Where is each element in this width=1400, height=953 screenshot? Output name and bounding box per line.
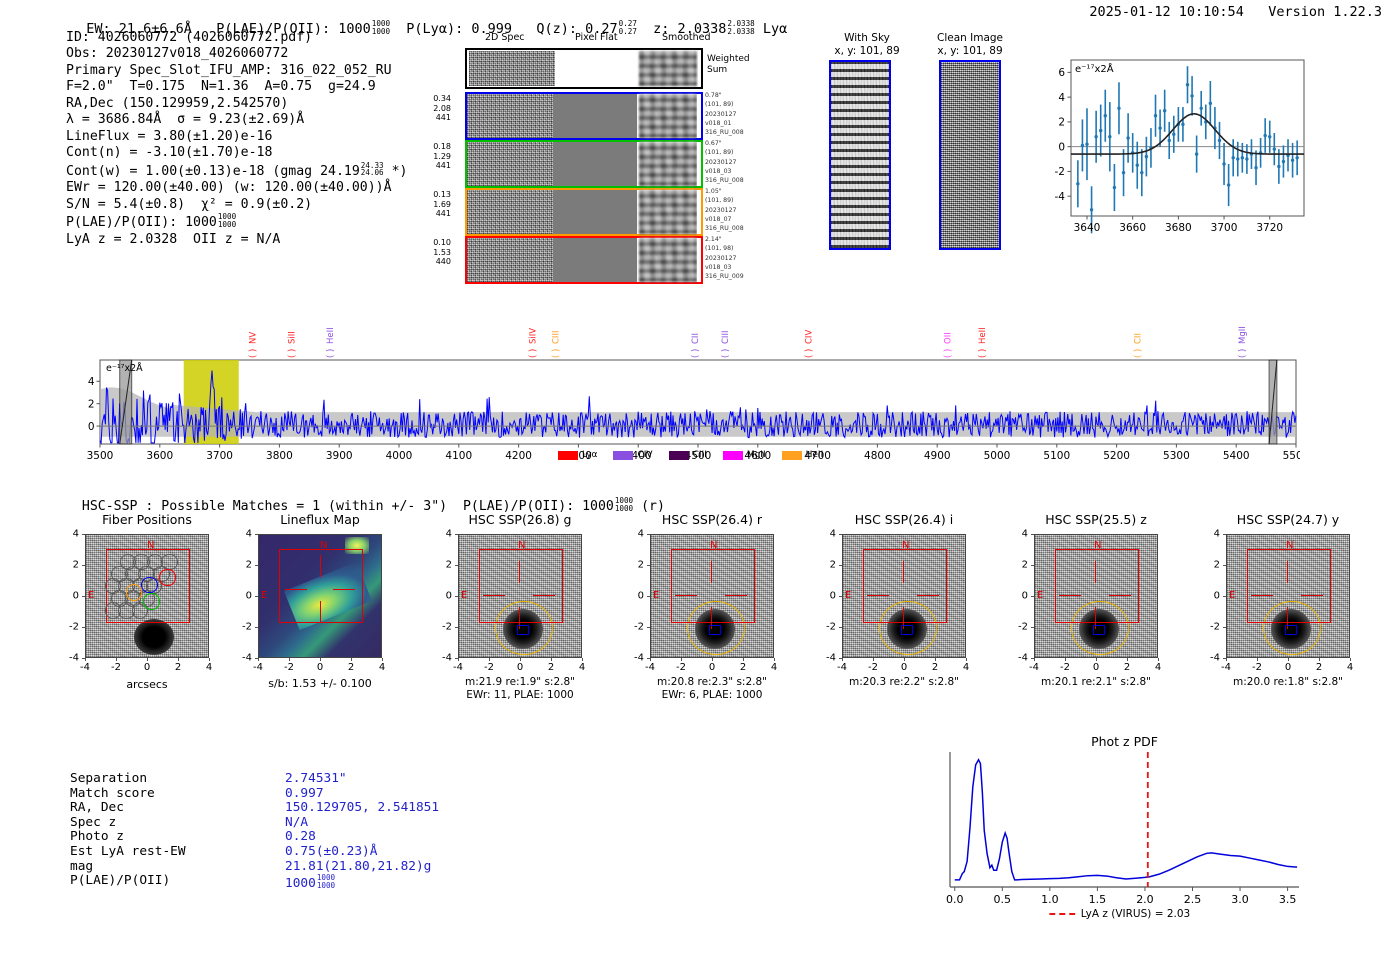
info-line-slot: Primary Spec_Slot_IFU_AMP: 316_022_052_R… [66, 63, 407, 79]
y-tick [839, 534, 842, 535]
y-tick [647, 627, 650, 628]
svg-text:( ): ( ) [691, 349, 701, 358]
y-tick [647, 565, 650, 566]
match-row-value: N/A [285, 816, 308, 831]
spec2d-right-label: (101, 89) [705, 196, 761, 205]
legend-item: Lyα [558, 450, 597, 460]
x-tick [1096, 658, 1097, 661]
compass-n-label: N [710, 540, 717, 551]
spec2d-right-label: 20230127 [705, 110, 761, 119]
spec2d-pixelflat-image [553, 94, 637, 138]
clean-image-subtitle: x, y: 101, 89 [937, 45, 1002, 57]
compass-e-label: E [261, 590, 267, 601]
y-tick [455, 627, 458, 628]
svg-text:CIV: CIV [805, 330, 815, 344]
y-tick [839, 658, 842, 659]
emission-line-marker: SiIV( ) [528, 328, 538, 358]
spec2d-2d-image [467, 142, 553, 186]
spec2d-row-right-labels: 1.05"(101, 89)20230127v018_07316_RU_008 [705, 187, 761, 233]
match-plae-frac: 10001000 [317, 874, 335, 889]
col-title-2dspec: 2D Spec [485, 32, 525, 43]
svg-text:SiII: SiII [287, 331, 297, 344]
svg-text:3700: 3700 [1211, 222, 1238, 234]
info-line-obs: Obs: 20230127v018_4026060772 [66, 46, 407, 62]
emission-line-marker: CII( ) [1134, 333, 1144, 358]
svg-text:( ): ( ) [721, 349, 731, 358]
hsc-band-metrics: m:20.3 re:2.2" s:2.8" [849, 676, 959, 688]
hsc-band-ewr: EWr: 6, PLAE: 1000 [662, 689, 763, 701]
gmag-frac: 24.3324.06 [361, 162, 384, 177]
info-line-params: F=2.0" T=0.175 N=1.36 A=0.75 g=24.9 [66, 79, 407, 95]
x-tick-label: 4 [379, 662, 385, 673]
crosshair-up [711, 561, 712, 583]
hsc-red-box [1247, 549, 1331, 623]
y-tick-label: -2 [1018, 622, 1028, 633]
crosshair-right [917, 595, 939, 596]
y-tick-label: -2 [826, 622, 836, 633]
line-profile-units: e⁻¹⁷x2Å [1075, 62, 1114, 75]
crosshair-left [867, 595, 889, 596]
hsc-red-box [1055, 549, 1139, 623]
hsc-band-panel: HSC SSP(26.4) iNE-4-2024420-2-4m:20.3 re… [812, 512, 987, 712]
compass-n-label: N [1094, 540, 1101, 551]
compass-n-label: N [902, 540, 909, 551]
spec2d-right-label: 20230127 [705, 254, 761, 263]
phot-z-legend: LyA z (VIRUS) = 2.03 [1049, 908, 1190, 920]
spec2d-right-label: 316_RU_008 [705, 176, 761, 185]
match-row-value: 21.81(21.80,21.82)g [285, 860, 431, 875]
x-tick-label: -4 [80, 662, 90, 673]
spec2d-gap [697, 190, 701, 234]
svg-text:5200: 5200 [1103, 450, 1130, 462]
x-tick [382, 658, 383, 661]
svg-text:6: 6 [1058, 67, 1065, 79]
clean-image-panel: Clean Image x, y: 101, 89 [925, 32, 1025, 258]
x-tick [289, 658, 290, 661]
svg-text:0.5: 0.5 [994, 893, 1012, 906]
svg-text:4100: 4100 [445, 450, 472, 462]
match-row-label: Match score [70, 787, 155, 802]
spec2d-left-label: 1.53 [419, 248, 451, 258]
legend-swatch [613, 451, 633, 460]
spec2d-row [465, 92, 703, 140]
x-tick [582, 658, 583, 661]
y-tick [255, 658, 258, 659]
spec2d-right-label: 0.78" [705, 91, 761, 100]
crosshair-up [320, 555, 321, 577]
svg-text:CIII: CIII [552, 331, 562, 344]
full-spectrum-plot: NV( )SiII( )HeII( )SiIV( )CIII( )CII( )C… [78, 312, 1300, 472]
x-tick [966, 658, 967, 661]
svg-text:3700: 3700 [206, 450, 233, 462]
match-row-label: mag [70, 860, 93, 875]
spec2d-row [465, 236, 703, 284]
y-tick-label: 2 [246, 560, 252, 571]
legend-label: CIII [693, 450, 707, 460]
svg-text:HeII: HeII [978, 327, 988, 344]
crosshair-right [725, 595, 747, 596]
x-tick-label: -2 [111, 662, 121, 673]
cutout-row: Fiber PositionsNE-4-2024420-2-4arcsecsLi… [0, 512, 1400, 727]
spec2d-left-label: 2.08 [419, 104, 451, 114]
info-line-sn: S/N = 5.4(±0.8) χ² = 0.9(±0.2) [66, 197, 407, 213]
svg-text:3800: 3800 [266, 450, 293, 462]
x-tick-label: 0 [317, 662, 323, 673]
compass-n-label: N [320, 540, 327, 551]
lineflux-map-panel: Lineflux MapNE-4-2024420-2-4s/b: 1.53 +/… [228, 512, 403, 712]
x-tick [351, 658, 352, 661]
compass-n-label: N [518, 540, 525, 551]
x-tick-label: 4 [963, 662, 969, 673]
timestamp-version: 2025-01-12 10:10:54 Version 1.22.3 [1089, 4, 1382, 20]
spec2d-right-label: v018_03 [705, 263, 761, 272]
col-title-pixelflat: Pixel Flat [575, 32, 618, 43]
svg-text:3720: 3720 [1256, 222, 1283, 234]
x-tick-label: 0 [1093, 662, 1099, 673]
svg-text:( ): ( ) [528, 349, 538, 358]
legend-label: CIV [637, 450, 652, 460]
x-tick [1319, 658, 1320, 661]
col-title-smoothed: Smoothed [662, 32, 711, 43]
x-tick-label: -4 [453, 662, 463, 673]
spec2d-panel: 2D Spec Pixel Flat Smoothed Weighted Sum… [455, 34, 755, 254]
fiber-xlabel: arcsecs [126, 678, 167, 691]
x-tick-label: 2 [348, 662, 354, 673]
compass-e-label: E [1229, 590, 1235, 601]
svg-text:1.5: 1.5 [1089, 893, 1107, 906]
y-tick [647, 596, 650, 597]
legend-item: MgII [723, 450, 766, 460]
x-tick-label: -4 [253, 662, 263, 673]
with-sky-image [829, 60, 891, 250]
y-tick [82, 658, 85, 659]
svg-text:2: 2 [88, 398, 95, 410]
y-tick [1031, 627, 1034, 628]
with-sky-panel: With Sky x, y: 101, 89 [822, 32, 912, 258]
line-profile-plot: 36403660368037003720-4-20246e⁻¹⁷x2Å [1035, 50, 1310, 250]
legend-swatch [723, 451, 743, 460]
x-tick-label: 2 [1124, 662, 1130, 673]
svg-text:-4: -4 [1055, 191, 1066, 203]
svg-text:5100: 5100 [1043, 450, 1070, 462]
y-tick-label: -2 [634, 622, 644, 633]
fiber-circle-highlight [126, 584, 143, 601]
svg-text:5000: 5000 [984, 450, 1011, 462]
y-tick-label: 4 [73, 529, 79, 540]
x-tick-label: 0 [709, 662, 715, 673]
match-row-label: Separation [70, 772, 147, 787]
x-tick-label: 2 [932, 662, 938, 673]
spectrum-legend: LyαCIVCIIIMgIIHeII [558, 450, 823, 460]
x-tick [1127, 658, 1128, 661]
hsc-band-metrics: m:20.0 re:1.8" s:2.8" [1233, 676, 1343, 688]
match-row-label: Spec z [70, 816, 116, 831]
spec2d-right-label: 316_RU_008 [705, 128, 761, 137]
fiber-circle-highlight [141, 577, 158, 594]
y-tick-label: -4 [1210, 653, 1220, 664]
spec2d-left-label: 0.18 [419, 142, 451, 152]
y-tick [255, 565, 258, 566]
svg-text:( ): ( ) [249, 349, 259, 358]
legend-swatch [558, 451, 578, 460]
match-marker-box [517, 625, 529, 635]
crosshair-left [675, 595, 697, 596]
crosshair-up [903, 561, 904, 583]
x-tick-label: 4 [579, 662, 585, 673]
info-plae-frac: 10001000 [218, 213, 236, 228]
y-tick-label: 0 [446, 591, 452, 602]
x-tick [1065, 658, 1066, 661]
info-line-ewr: EWr = 120.00(±40.00) (w: 120.00(±40.00))… [66, 180, 407, 196]
match-marker-box [1093, 625, 1105, 635]
x-tick [873, 658, 874, 661]
svg-text:( ): ( ) [978, 349, 988, 358]
match-row-value: 100010001000 [285, 874, 335, 892]
y-tick-label: 0 [1214, 591, 1220, 602]
spec2d-2d-image [467, 238, 553, 282]
svg-text:0: 0 [1058, 141, 1065, 153]
match-row-label: Photo z [70, 830, 124, 845]
x-tick [1288, 658, 1289, 661]
object-info-block: ID: 4026060772 (4026060772.pdf) Obs: 202… [66, 30, 407, 248]
svg-text:2: 2 [1058, 117, 1065, 129]
hsc-band-metrics: m:20.8 re:2.3" s:2.8" [657, 676, 767, 688]
spec2d-right-label: 20230127 [705, 206, 761, 215]
qz-frac: 0.270.27 [619, 20, 637, 35]
match-row-value: 0.997 [285, 787, 324, 802]
emission-line-marker: HeII( ) [978, 327, 988, 358]
y-tick-label: 4 [246, 529, 252, 540]
crosshair-right [1109, 595, 1131, 596]
panel-title: HSC SSP(26.4) i [855, 512, 953, 527]
spec2d-right-label: 316_RU_009 [705, 272, 761, 281]
match-row-label: Est LyA rest-EW [70, 845, 186, 860]
emission-line-marker: CIII( ) [552, 331, 562, 358]
spec2d-right-label: 1.05" [705, 187, 761, 196]
y-tick-label: 4 [1022, 529, 1028, 540]
x-tick [681, 658, 682, 661]
svg-text:5500: 5500 [1283, 450, 1300, 462]
y-tick [255, 627, 258, 628]
x-tick [147, 658, 148, 661]
line-profile-svg: 36403660368037003720-4-20246e⁻¹⁷x2Å [1035, 50, 1310, 250]
match-row-label: P(LAE)/P(OII) [70, 874, 170, 889]
spec2d-left-label: 441 [419, 209, 451, 219]
match-row-value: 2.74531" [285, 772, 347, 787]
x-tick-label: 2 [175, 662, 181, 673]
svg-text:( ): ( ) [943, 349, 953, 358]
hsc-red-box [479, 549, 563, 623]
svg-text:( ): ( ) [326, 349, 336, 358]
svg-text:( ): ( ) [1134, 349, 1144, 358]
hsc-band-panel: HSC SSP(26.8) gNE-4-2024420-2-4m:21.9 re… [428, 512, 603, 712]
y-tick [1223, 658, 1226, 659]
svg-text:NV: NV [249, 332, 259, 344]
svg-text:4900: 4900 [924, 450, 951, 462]
legend-item: CIII [669, 450, 707, 460]
y-tick [839, 596, 842, 597]
y-tick [839, 565, 842, 566]
svg-text:4: 4 [1058, 92, 1065, 104]
info-line-redshift: LyA z = 2.0328 OII z = N/A [66, 232, 407, 248]
panel-title: HSC SSP(26.8) g [469, 512, 572, 527]
spec2d-right-label: v018_03 [705, 167, 761, 176]
y-tick [455, 534, 458, 535]
y-tick [82, 627, 85, 628]
x-tick-label: 4 [206, 662, 212, 673]
svg-text:-2: -2 [1055, 166, 1065, 178]
match-row-value: 0.75(±0.23)Å [285, 845, 377, 860]
compass-e-label: E [653, 590, 659, 601]
with-sky-subtitle: x, y: 101, 89 [834, 45, 899, 57]
svg-text:3600: 3600 [146, 450, 173, 462]
y-tick-label: -2 [1210, 622, 1220, 633]
spec2d-left-label: 0.10 [419, 238, 451, 248]
x-tick [116, 658, 117, 661]
x-tick [904, 658, 905, 661]
y-tick [455, 658, 458, 659]
y-tick-label: -4 [242, 653, 252, 664]
info-line-plae: P(LAE)/P(OII): 100010001000 [66, 213, 407, 232]
spec2d-left-label: 0.34 [419, 94, 451, 104]
match-marker-box [901, 625, 913, 635]
info-line-cont-w: Cont(w) = 1.00(±0.13)e-18 (gmag 24.1924.… [66, 162, 407, 181]
y-tick-label: -2 [442, 622, 452, 633]
spec2d-smoothed-image [639, 238, 697, 282]
spec2d-right-label: 316_RU_008 [705, 224, 761, 233]
spec2d-left-label: 441 [419, 113, 451, 123]
x-tick-label: 0 [1285, 662, 1291, 673]
x-tick [935, 658, 936, 661]
hsc-band-panel: HSC SSP(25.5) zNE-4-2024420-2-4m:20.1 re… [1004, 512, 1179, 712]
emission-line-marker: SiII( ) [287, 331, 297, 358]
hsc-red-box [671, 549, 755, 623]
y-tick-label: 2 [1214, 560, 1220, 571]
spec2d-gap [697, 238, 701, 282]
legend-label: MgII [747, 450, 766, 460]
svg-text:OII: OII [943, 332, 953, 344]
svg-text:CII: CII [691, 333, 701, 344]
lineflux-sb-label: s/b: 1.53 +/- 0.100 [268, 677, 372, 690]
x-tick-label: -4 [645, 662, 655, 673]
spectrum-units: e⁻¹⁷x2Å [106, 362, 143, 374]
svg-text:3900: 3900 [326, 450, 353, 462]
compass-e-label: E [461, 590, 467, 601]
y-tick-label: 0 [73, 591, 79, 602]
y-tick-label: -4 [826, 653, 836, 664]
svg-text:4200: 4200 [505, 450, 532, 462]
info-line-cont-n: Cont(n) = -3.10(±1.70)e-18 [66, 145, 407, 161]
svg-text:SiIV: SiIV [528, 328, 538, 344]
spec2d-row-left-labels: 0.342.08441 [419, 94, 451, 123]
weighted-sum-label: Weighted Sum [707, 54, 750, 76]
x-tick [712, 658, 713, 661]
y-tick [839, 627, 842, 628]
spec2d-gap [697, 142, 701, 186]
crosshair-up [1287, 561, 1288, 583]
spec2d-right-label: 0.67" [705, 139, 761, 148]
spec2d-right-label: (101, 89) [705, 148, 761, 157]
y-tick [82, 534, 85, 535]
svg-text:3640: 3640 [1074, 222, 1101, 234]
y-tick [1223, 534, 1226, 535]
svg-text:MgII: MgII [1238, 326, 1248, 344]
x-tick-label: -4 [837, 662, 847, 673]
with-sky-title: With Sky [844, 32, 890, 44]
spec2d-pixelflat-image [553, 142, 637, 186]
emission-line-marker: HeII( ) [326, 327, 336, 358]
hsc-band-metrics: m:21.9 re:1.9" s:2.8" [465, 676, 575, 688]
info-line-lineflux: LineFlux = 3.80(±1.20)e-16 [66, 129, 407, 145]
svg-text:5400: 5400 [1223, 450, 1250, 462]
hsc-band-image [842, 534, 966, 658]
spec2d-right-label: (101, 89) [705, 100, 761, 109]
legend-item: HeII [782, 450, 824, 460]
crosshair-right [1301, 595, 1323, 596]
x-tick-label: 4 [771, 662, 777, 673]
x-tick [1257, 658, 1258, 661]
svg-text:HeII: HeII [326, 327, 336, 344]
fiber-circle-highlight [143, 593, 160, 610]
x-tick-label: 4 [1347, 662, 1353, 673]
spec2d-row-left-labels: 0.181.29441 [419, 142, 451, 171]
y-tick-label: 0 [246, 591, 252, 602]
panel-title: HSC SSP(26.4) r [662, 512, 762, 527]
match-row-value: 150.129705, 2.541851 [285, 801, 439, 816]
hsc-band-panel: HSC SSP(26.4) rNE-4-2024420-2-4m:20.8 re… [620, 512, 795, 712]
crosshair-left [483, 595, 505, 596]
x-tick-label: 0 [901, 662, 907, 673]
legend-item: CIV [613, 450, 652, 460]
crosshair-down [320, 601, 321, 623]
crosshair-up [519, 561, 520, 583]
y-tick-label: 4 [638, 529, 644, 540]
y-tick-label: 0 [1022, 591, 1028, 602]
svg-text:2.0: 2.0 [1136, 893, 1154, 906]
svg-text:( ): ( ) [287, 349, 297, 358]
emission-line-marker: CIII( ) [721, 331, 731, 358]
svg-text:3500: 3500 [87, 450, 114, 462]
spec2d-left-label: 1.69 [419, 200, 451, 210]
y-tick [647, 658, 650, 659]
x-tick-label: 4 [1155, 662, 1161, 673]
fiber-positions-panel: Fiber PositionsNE-4-2024420-2-4arcsecs [55, 512, 230, 712]
y-tick-label: 4 [1214, 529, 1220, 540]
y-tick-label: -4 [442, 653, 452, 664]
y-tick [255, 534, 258, 535]
crosshair-left [1251, 595, 1273, 596]
x-tick-label: -2 [484, 662, 494, 673]
x-tick [209, 658, 210, 661]
clean-image-title: Clean Image [937, 32, 1003, 44]
y-tick-label: 2 [73, 560, 79, 571]
x-tick-label: 2 [740, 662, 746, 673]
emission-line-marker: CIV( ) [805, 330, 815, 358]
spec2d-row-left-labels: 0.131.69441 [419, 190, 451, 219]
x-tick-label: -4 [1221, 662, 1231, 673]
spec2d-smoothed-image [639, 94, 697, 138]
y-tick [647, 534, 650, 535]
x-tick [551, 658, 552, 661]
info-line-id: ID: 4026060772 (4026060772.pdf) [66, 30, 407, 46]
y-tick [255, 596, 258, 597]
clean-image [939, 60, 1001, 250]
x-tick [489, 658, 490, 661]
y-tick [1031, 596, 1034, 597]
y-tick-label: -2 [242, 622, 252, 633]
svg-text:5300: 5300 [1163, 450, 1190, 462]
compass-n-label: N [147, 540, 154, 551]
